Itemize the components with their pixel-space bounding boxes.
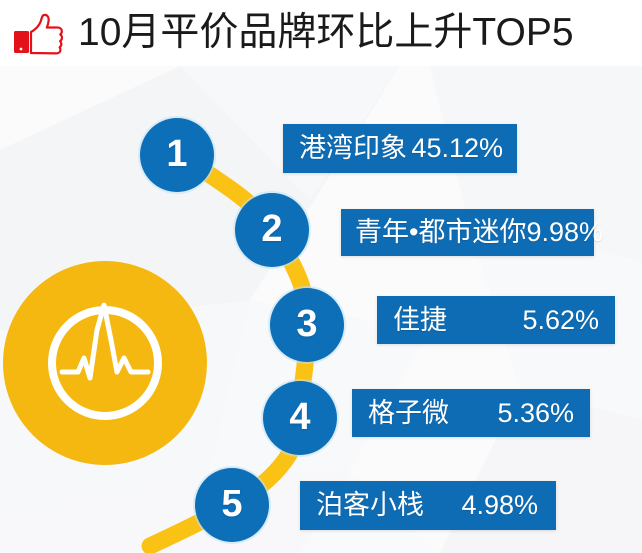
brand-name-2: 青年•都市迷你: [355, 219, 526, 246]
rank-node-5-number: 5: [221, 485, 242, 523]
brand-percent-4: 5.36%: [497, 400, 574, 427]
rank-node-1[interactable]: 1: [140, 118, 214, 192]
rank-node-2[interactable]: 2: [235, 193, 309, 267]
rank-node-1-number: 1: [166, 135, 187, 173]
rank-node-2-number: 2: [261, 210, 282, 248]
pulse-badge-circle: [3, 261, 207, 465]
rank-node-3[interactable]: 3: [270, 288, 344, 362]
brand-percent-3: 5.62%: [522, 307, 599, 334]
brand-name-5: 泊客小栈: [316, 492, 424, 519]
brand-name-3: 佳捷: [393, 307, 447, 334]
rank-node-4-number: 4: [289, 398, 310, 436]
rank-node-5[interactable]: 5: [195, 468, 269, 542]
brand-percent-5: 4.98%: [461, 492, 538, 519]
rank-node-4[interactable]: 4: [263, 381, 337, 455]
infographic-root: 10月平价品牌环比上升TOP5 1 2 3 4 5 港湾印象 45.12% 青年…: [0, 0, 642, 553]
brand-bar-4[interactable]: 格子微 5.36%: [352, 389, 590, 437]
brand-bar-3[interactable]: 佳捷 5.62%: [377, 296, 615, 344]
brand-bar-1[interactable]: 港湾印象 45.12%: [283, 124, 517, 173]
brand-name-4: 格子微: [368, 400, 449, 427]
brand-bar-2[interactable]: 青年•都市迷你 9.98%: [341, 209, 594, 256]
brand-percent-2: 9.98%: [526, 219, 603, 246]
brand-bar-5[interactable]: 泊客小栈 4.98%: [300, 481, 556, 530]
rank-node-3-number: 3: [296, 305, 317, 343]
brand-percent-1: 45.12%: [411, 135, 503, 162]
connector-path-layer: [0, 0, 642, 553]
brand-name-1: 港湾印象: [299, 135, 407, 162]
